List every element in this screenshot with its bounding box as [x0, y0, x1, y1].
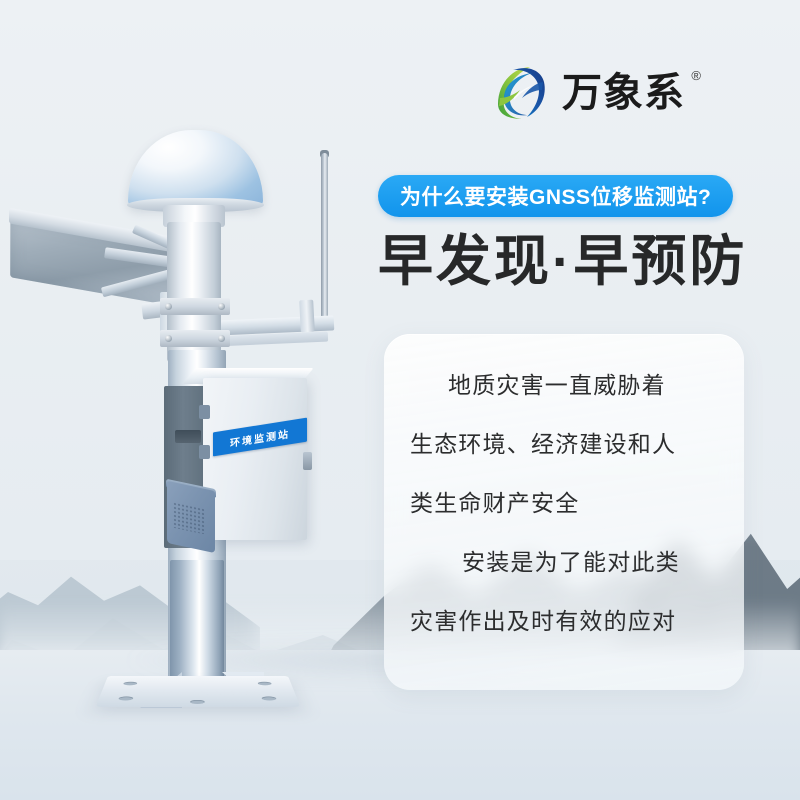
enclosure-latch — [303, 452, 312, 470]
clamp-bolt — [165, 335, 172, 342]
enclosure-hinge — [199, 405, 210, 419]
content-column: 万象系 ® 为什么要安装GNSS位移监测站? 早发现·早预防 地质灾害一直威胁着… — [370, 0, 800, 800]
enclosure-vent-slot — [175, 430, 201, 443]
base-bolt-hole — [118, 697, 133, 701]
globe-swirl-logo-icon — [492, 64, 550, 122]
question-pill-badge: 为什么要安装GNSS位移监测站? — [378, 175, 733, 217]
base-bolt-hole — [123, 682, 137, 686]
description-card-body: 地质灾害一直威胁着 生态环境、经济建设和人 类生命财产安全 安装是为了能对此类 … — [410, 374, 718, 633]
description-line: 灾害作出及时有效的应对 — [410, 610, 718, 633]
base-bolt-hole — [261, 697, 276, 701]
poster-canvas: 环境监测站 — [0, 0, 800, 800]
brand-name: 万象系 ® — [562, 73, 685, 113]
description-card: 地质灾害一直威胁着 生态环境、经济建设和人 类生命财产安全 安装是为了能对此类 … — [384, 334, 744, 690]
monitoring-station-illustration: 环境监测站 — [0, 0, 400, 800]
riser-clamp — [160, 298, 230, 315]
description-line: 生态环境、经济建设和人 — [410, 433, 718, 456]
enclosure-cabinet — [203, 378, 307, 540]
gnss-antenna-dome — [128, 130, 263, 208]
enclosure-name-plate-text: 环境监测站 — [230, 425, 290, 450]
description-line: 安装是为了能对此类 — [410, 551, 718, 574]
question-pill-label: 为什么要安装GNSS位移监测站? — [400, 181, 711, 211]
clamp-bolt — [165, 303, 172, 310]
cross-arm-bracket — [299, 300, 315, 333]
whip-antenna — [321, 153, 328, 328]
base-bolt-hole — [190, 700, 205, 704]
brand-lockup: 万象系 ® — [492, 64, 685, 122]
registered-trademark-icon: ® — [691, 69, 702, 82]
brand-name-text: 万象系 — [562, 71, 685, 115]
riser-clamp — [160, 330, 230, 347]
enclosure-hinge — [199, 445, 210, 459]
page-title: 早发现·早预防 — [378, 229, 747, 294]
base-bolt-hole — [258, 682, 272, 686]
description-line: 类生命财产安全 — [410, 492, 718, 515]
base-mounting-plate — [96, 676, 301, 707]
clamp-bolt — [218, 335, 225, 342]
clamp-bolt — [218, 303, 225, 310]
description-line: 地质灾害一直威胁着 — [410, 374, 718, 397]
